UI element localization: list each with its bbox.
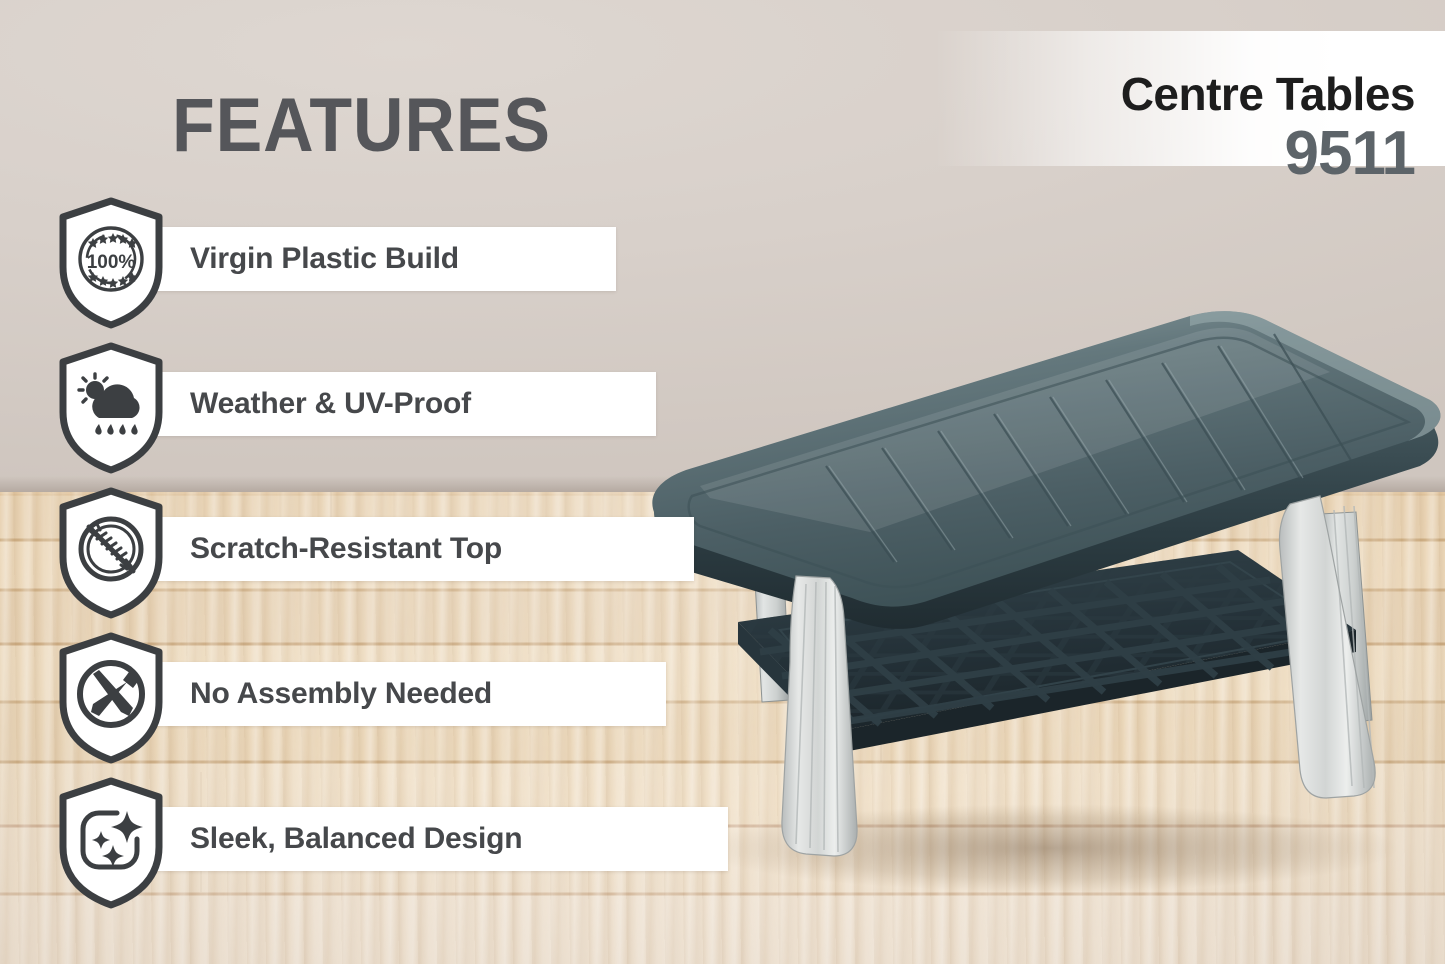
feature-label: Weather & UV-Proof [190,387,471,421]
product-feature-graphic: Centre Tables 9511 FEATURES Virgin Plast… [0,0,1445,964]
feature-item: Scratch-Resistant Top [0,487,700,632]
features-heading: FEATURES [172,88,551,164]
shield-sparkle-design-icon [55,777,167,909]
product-image-centre-table [630,300,1445,900]
product-category-title: Centre Tables [1121,71,1415,117]
header-panel: Centre Tables 9511 [935,31,1445,166]
feature-label-bar: No Assembly Needed [112,662,666,726]
feature-label: No Assembly Needed [190,677,492,711]
feature-item: Weather & UV-Proof [0,342,700,487]
feature-label: Sleek, Balanced Design [190,822,522,856]
feature-item: No Assembly Needed [0,632,700,777]
feature-item: Virgin Plastic Build [0,197,700,342]
badge-percent-text: 100% [87,252,136,273]
product-model-number: 9511 [1284,123,1415,185]
shield-no-tools-icon [55,632,167,764]
feature-label-bar: Weather & UV-Proof [112,372,656,436]
feature-item: Sleek, Balanced Design [0,777,700,922]
feature-label-bar: Sleek, Balanced Design [112,807,728,871]
shield-sun-rain-cloud-icon [55,342,167,474]
features-list: Virgin Plastic Build [0,197,700,922]
feature-label-bar: Scratch-Resistant Top [112,517,694,581]
shield-100-percent-icon: 100% [55,197,167,329]
shield-no-scratch-icon [55,487,167,619]
feature-label-bar: Virgin Plastic Build [112,227,616,291]
feature-label: Scratch-Resistant Top [190,532,502,566]
feature-label: Virgin Plastic Build [190,242,459,276]
